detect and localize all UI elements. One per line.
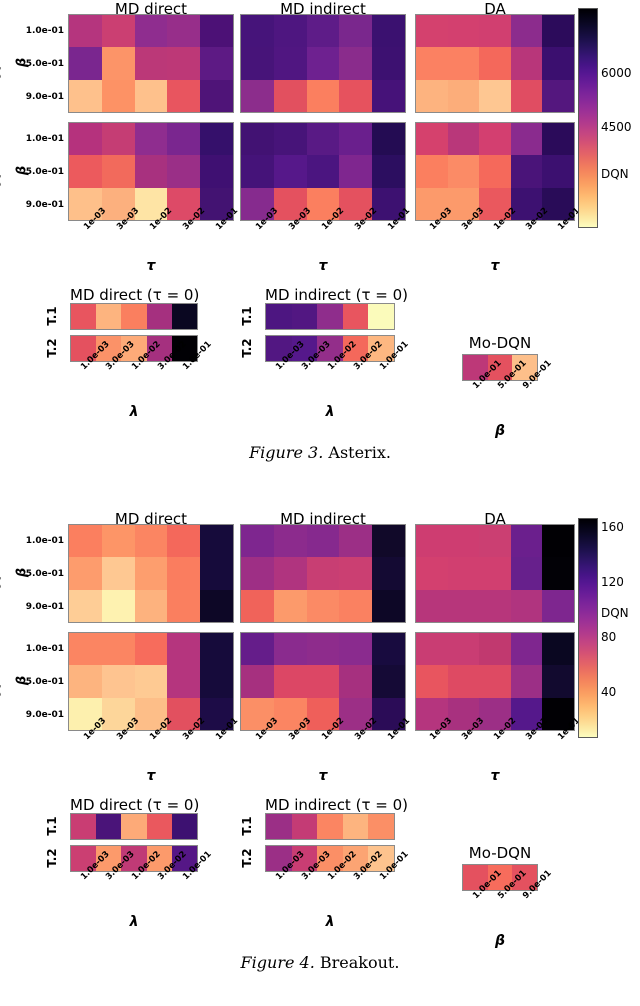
heatmap-grid-1d [265, 813, 395, 840]
colorbar-tick-label: DQN [601, 167, 629, 181]
heatmap-cell [96, 814, 121, 839]
heatmap-cell [200, 557, 233, 589]
heatmap-cell [266, 814, 292, 839]
heatmap-cell [71, 304, 96, 329]
y-axis-label: β [15, 52, 30, 72]
heatmap-cell [372, 557, 405, 589]
x-axis-label: λ [255, 404, 405, 420]
heatmap-cell [339, 665, 372, 697]
heatmap-cell [241, 80, 274, 112]
colorbar-tick-label: 6000 [601, 66, 632, 80]
y-axis-label: β [15, 562, 30, 582]
heatmap-cell [416, 590, 448, 622]
heatmap-cell [448, 525, 480, 557]
heatmap-cell [147, 304, 172, 329]
panel-title-md-indirect-: MD indirect (τ = 0) [265, 796, 395, 814]
heatmap-cell [368, 304, 394, 329]
heatmap-cell [339, 525, 372, 557]
heatmap-cell [511, 665, 543, 697]
heatmap-cell [292, 304, 318, 329]
colorbar-tick-label: DQN [601, 606, 629, 620]
panel-title-mo-dqn: Mo-DQN [458, 334, 542, 352]
heatmap-cell [241, 590, 274, 622]
colorbar-tick-label: 4500 [601, 120, 632, 134]
figure-caption-label: Figure 3. [249, 443, 323, 462]
colorbar [578, 518, 598, 738]
heatmap-cell [307, 633, 340, 665]
y-axis-label: β [15, 670, 30, 690]
heatmap-cell [416, 633, 448, 665]
heatmap-cell [172, 814, 197, 839]
x-axis-label: τ [68, 258, 234, 274]
heatmap-cell [102, 15, 135, 47]
heatmap-cell [542, 155, 574, 187]
heatmap-cell [448, 47, 480, 79]
heatmap-cell [102, 80, 135, 112]
heatmap-cell [416, 80, 448, 112]
x-axis-label: λ [255, 914, 405, 930]
heatmap-cell [274, 590, 307, 622]
heatmap-cell [167, 525, 200, 557]
heatmap-cell [307, 47, 340, 79]
heatmap-cell [102, 155, 135, 187]
heatmap-cell [542, 525, 574, 557]
heatmap-cell [102, 633, 135, 665]
y-tick-label: 9.0e-01 [10, 602, 64, 612]
heatmap-cell [200, 525, 233, 557]
figure-caption: Figure 4. Breakout. [0, 953, 640, 972]
heatmap-cell [69, 665, 102, 697]
heatmap-cell [69, 15, 102, 47]
x-axis-label: τ [415, 768, 575, 784]
heatmap-cell [479, 665, 511, 697]
heatmap-cell [121, 814, 146, 839]
heatmap-cell [372, 80, 405, 112]
heatmap-grid [240, 122, 406, 221]
heatmap-cell [167, 47, 200, 79]
heatmap-cell [167, 633, 200, 665]
heatmap-cell [372, 525, 405, 557]
heatmap-cell [542, 15, 574, 47]
heatmap-cell [135, 557, 168, 589]
heatmap-cell [372, 633, 405, 665]
heatmap-cell [511, 155, 543, 187]
heatmap-cell [307, 557, 340, 589]
heatmap-cell [121, 304, 146, 329]
heatmap-cell [274, 155, 307, 187]
y-tick-label: 9.0e-01 [10, 200, 64, 210]
heatmap-cell [69, 47, 102, 79]
row-label: T.2 [240, 331, 254, 365]
heatmap-grid [240, 632, 406, 731]
panel-title-md-direct-: MD direct (τ = 0) [70, 286, 198, 304]
heatmap-cell [274, 633, 307, 665]
row-group-label: Type 2 [0, 640, 2, 720]
heatmap-cell [479, 155, 511, 187]
row-label: T.1 [45, 299, 59, 333]
heatmap-cell [339, 123, 372, 155]
heatmap-cell [292, 814, 318, 839]
heatmap-cell [317, 304, 343, 329]
heatmap-cell [274, 525, 307, 557]
heatmap-cell [274, 665, 307, 697]
heatmap-cell [241, 633, 274, 665]
heatmap-cell [372, 590, 405, 622]
heatmap-cell [448, 665, 480, 697]
heatmap-cell [241, 123, 274, 155]
heatmap-cell [135, 665, 168, 697]
heatmap-cell [135, 525, 168, 557]
heatmap-cell [241, 557, 274, 589]
heatmap-cell [372, 155, 405, 187]
heatmap-cell [448, 123, 480, 155]
heatmap-cell [102, 123, 135, 155]
figure-4-breakout: MD direct1.0e-015.0e-019.0e-01Type 1β1.0… [0, 510, 640, 1006]
heatmap-cell [135, 633, 168, 665]
heatmap-cell [307, 155, 340, 187]
panel-title-md-direct-: MD direct (τ = 0) [70, 796, 198, 814]
heatmap-cell [274, 80, 307, 112]
heatmap-cell [339, 557, 372, 589]
panel-title-mo-dqn: Mo-DQN [458, 844, 542, 862]
heatmap-grid [415, 524, 575, 623]
heatmap-cell [448, 633, 480, 665]
y-axis-label: β [15, 160, 30, 180]
heatmap-cell [339, 80, 372, 112]
heatmap-cell [102, 525, 135, 557]
heatmap-cell [274, 47, 307, 79]
heatmap-cell [416, 15, 448, 47]
heatmap-cell [479, 47, 511, 79]
heatmap-cell [372, 665, 405, 697]
heatmap-cell [372, 15, 405, 47]
figure-caption-text: Asterix. [328, 443, 391, 462]
heatmap-cell [416, 155, 448, 187]
heatmap-cell [416, 665, 448, 697]
heatmap-cell [511, 15, 543, 47]
heatmap-grid-1d [70, 303, 198, 330]
heatmap-grid [240, 14, 406, 113]
heatmap-cell [167, 557, 200, 589]
heatmap-cell [479, 633, 511, 665]
x-axis-label: β [452, 423, 548, 439]
heatmap-cell [511, 557, 543, 589]
heatmap-cell [241, 155, 274, 187]
heatmap-cell [135, 123, 168, 155]
heatmap-grid [415, 14, 575, 113]
heatmap-cell [339, 155, 372, 187]
y-tick-label: 1.0e-01 [10, 536, 64, 546]
heatmap-cell [448, 557, 480, 589]
heatmap-cell [167, 15, 200, 47]
heatmap-cell [479, 80, 511, 112]
heatmap-cell [372, 47, 405, 79]
heatmap-cell [135, 80, 168, 112]
heatmap-cell [200, 665, 233, 697]
heatmap-cell [511, 525, 543, 557]
heatmap-cell [69, 80, 102, 112]
heatmap-cell [69, 123, 102, 155]
figure-caption-text: Breakout. [320, 953, 400, 972]
heatmap-cell [200, 15, 233, 47]
heatmap-cell [102, 557, 135, 589]
heatmap-cell [200, 633, 233, 665]
heatmap-cell [511, 590, 543, 622]
heatmap-cell [479, 590, 511, 622]
heatmap-cell [102, 665, 135, 697]
heatmap-cell [307, 525, 340, 557]
row-label: T.1 [240, 299, 254, 333]
heatmap-grid-1d [70, 813, 198, 840]
row-label: T.2 [45, 841, 59, 875]
heatmap-cell [448, 80, 480, 112]
x-axis-label: β [452, 933, 548, 949]
figure-3-asterix: MD direct1.0e-015.0e-019.0e-01Type 1β1.0… [0, 0, 640, 480]
x-axis-label: τ [415, 258, 575, 274]
heatmap-cell [69, 557, 102, 589]
heatmap-cell [511, 47, 543, 79]
x-axis-label: τ [240, 258, 406, 274]
x-axis-label: λ [60, 914, 208, 930]
heatmap-grid [240, 524, 406, 623]
heatmap-cell [542, 590, 574, 622]
heatmap-cell [135, 590, 168, 622]
row-group-label: Type 1 [0, 532, 2, 612]
heatmap-grid [68, 122, 234, 221]
row-label: T.2 [45, 331, 59, 365]
heatmap-cell [241, 47, 274, 79]
heatmap-grid-1d [265, 303, 395, 330]
heatmap-cell [167, 665, 200, 697]
heatmap-cell [241, 665, 274, 697]
heatmap-cell [167, 155, 200, 187]
heatmap-grid [68, 524, 234, 623]
heatmap-cell [200, 80, 233, 112]
heatmap-cell [172, 304, 197, 329]
heatmap-cell [274, 123, 307, 155]
heatmap-cell [479, 525, 511, 557]
heatmap-cell [167, 80, 200, 112]
heatmap-cell [479, 123, 511, 155]
heatmap-cell [274, 557, 307, 589]
heatmap-cell [339, 633, 372, 665]
heatmap-cell [307, 15, 340, 47]
heatmap-cell [542, 665, 574, 697]
row-label: T.1 [45, 809, 59, 843]
heatmap-cell [307, 123, 340, 155]
heatmap-cell [307, 80, 340, 112]
heatmap-cell [448, 15, 480, 47]
heatmap-cell [317, 814, 343, 839]
y-tick-label: 1.0e-01 [10, 644, 64, 654]
figure-caption-label: Figure 4. [241, 953, 315, 972]
y-tick-label: 9.0e-01 [10, 710, 64, 720]
heatmap-cell [511, 633, 543, 665]
row-group-label: Type 2 [0, 130, 2, 210]
heatmap-cell [69, 590, 102, 622]
heatmap-cell [542, 557, 574, 589]
heatmap-cell [542, 633, 574, 665]
colorbar-tick-label: 160 [601, 520, 624, 534]
heatmap-cell [542, 47, 574, 79]
heatmap-cell [339, 590, 372, 622]
heatmap-cell [200, 47, 233, 79]
heatmap-cell [416, 47, 448, 79]
heatmap-cell [274, 15, 307, 47]
row-label: T.2 [240, 841, 254, 875]
colorbar-tick-label: 120 [601, 575, 624, 589]
heatmap-cell [102, 590, 135, 622]
heatmap-cell [368, 814, 394, 839]
heatmap-cell [511, 123, 543, 155]
heatmap-cell [416, 557, 448, 589]
heatmap-cell [339, 47, 372, 79]
heatmap-cell [339, 15, 372, 47]
panel-title-md-indirect-: MD indirect (τ = 0) [265, 286, 395, 304]
heatmap-cell [69, 525, 102, 557]
heatmap-cell [511, 80, 543, 112]
heatmap-cell [448, 155, 480, 187]
heatmap-grid [68, 14, 234, 113]
figure-caption: Figure 3. Asterix. [0, 443, 640, 462]
heatmap-cell [200, 155, 233, 187]
row-label: T.1 [240, 809, 254, 843]
heatmap-cell [167, 123, 200, 155]
heatmap-cell [479, 15, 511, 47]
heatmap-cell [102, 47, 135, 79]
x-axis-label: τ [240, 768, 406, 784]
heatmap-cell [416, 123, 448, 155]
heatmap-grid [68, 632, 234, 731]
heatmap-grid [415, 632, 575, 731]
heatmap-cell [241, 525, 274, 557]
heatmap-cell [69, 155, 102, 187]
y-tick-label: 1.0e-01 [10, 26, 64, 36]
heatmap-cell [542, 123, 574, 155]
row-group-label: Type 1 [0, 22, 2, 102]
x-axis-label: τ [68, 768, 234, 784]
heatmap-cell [307, 590, 340, 622]
heatmap-cell [200, 590, 233, 622]
heatmap-cell [69, 633, 102, 665]
heatmap-cell [542, 80, 574, 112]
heatmap-cell [479, 557, 511, 589]
colorbar-tick-label: 40 [601, 685, 616, 699]
heatmap-cell [343, 304, 369, 329]
heatmap-grid [415, 122, 575, 221]
heatmap-cell [135, 47, 168, 79]
y-tick-label: 1.0e-01 [10, 134, 64, 144]
heatmap-cell [167, 590, 200, 622]
heatmap-cell [448, 590, 480, 622]
heatmap-cell [96, 304, 121, 329]
colorbar [578, 8, 598, 228]
heatmap-cell [241, 15, 274, 47]
heatmap-cell [266, 304, 292, 329]
colorbar-tick-label: 80 [601, 630, 616, 644]
heatmap-cell [416, 525, 448, 557]
x-axis-label: λ [60, 404, 208, 420]
heatmap-cell [200, 123, 233, 155]
y-tick-label: 9.0e-01 [10, 92, 64, 102]
heatmap-cell [372, 123, 405, 155]
heatmap-cell [147, 814, 172, 839]
heatmap-cell [343, 814, 369, 839]
heatmap-cell [135, 155, 168, 187]
heatmap-cell [307, 665, 340, 697]
heatmap-cell [71, 814, 96, 839]
heatmap-cell [135, 15, 168, 47]
